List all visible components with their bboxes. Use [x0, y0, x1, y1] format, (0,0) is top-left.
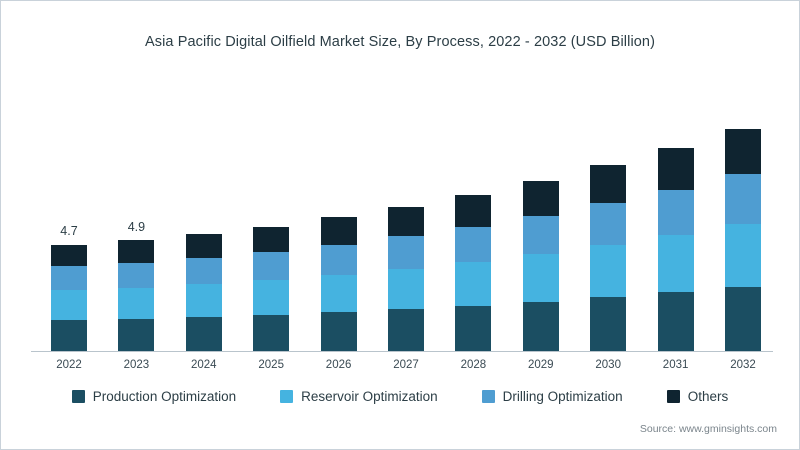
x-tick-label-2027: 2027: [376, 359, 436, 371]
bar-segment: [455, 227, 491, 262]
legend-swatch-icon: [72, 390, 85, 403]
x-tick-label-2031: 2031: [646, 359, 706, 371]
bar-stack-2028[interactable]: [455, 195, 491, 351]
x-tick-label-2024: 2024: [174, 359, 234, 371]
x-tick-label-2028: 2028: [443, 359, 503, 371]
bar-segment: [253, 252, 289, 280]
bar-value-label: 4.9: [128, 220, 145, 234]
bar-segment: [388, 236, 424, 268]
bar-segment: [590, 165, 626, 203]
chart-legend: Production OptimizationReservoir Optimiz…: [1, 389, 799, 404]
legend-swatch-icon: [482, 390, 495, 403]
bar-segment: [51, 290, 87, 320]
bar-segment: [725, 224, 761, 287]
legend-item-0[interactable]: Production Optimization: [72, 389, 236, 404]
bar-stack-2029[interactable]: [523, 181, 559, 351]
legend-label: Drilling Optimization: [503, 389, 623, 404]
bar-segment: [658, 190, 694, 235]
bar-segment: [118, 240, 154, 263]
bar-segment: [455, 262, 491, 306]
legend-label: Others: [688, 389, 729, 404]
bar-stack-2024[interactable]: [186, 234, 222, 351]
bar-segment: [321, 275, 357, 313]
bar-segment: [118, 263, 154, 288]
chart-card: Asia Pacific Digital Oilfield Market Siz…: [0, 0, 800, 450]
bar-segment: [658, 235, 694, 292]
bar-segment: [725, 174, 761, 224]
bar-segment: [388, 207, 424, 237]
x-tick-label-2022: 2022: [39, 359, 99, 371]
x-tick-label-2032: 2032: [713, 359, 773, 371]
bar-segment: [186, 234, 222, 258]
bar-stack-2023[interactable]: 4.9: [118, 240, 154, 351]
bar-stack-2026[interactable]: [321, 217, 357, 351]
plot-area: 4.74.9: [31, 79, 771, 351]
bar-segment: [186, 258, 222, 284]
bar-segment: [321, 217, 357, 244]
legend-label: Reservoir Optimization: [301, 389, 438, 404]
bar-segment: [590, 297, 626, 351]
bar-segment: [388, 309, 424, 351]
bar-segment: [321, 245, 357, 275]
bar-segment: [725, 129, 761, 175]
legend-label: Production Optimization: [93, 389, 236, 404]
bar-segment: [253, 315, 289, 351]
bar-stack-2032[interactable]: [725, 129, 761, 351]
x-axis-line: [31, 351, 773, 352]
bar-stack-2025[interactable]: [253, 227, 289, 351]
bar-segment: [321, 312, 357, 351]
legend-swatch-icon: [667, 390, 680, 403]
legend-swatch-icon: [280, 390, 293, 403]
bar-segment: [118, 288, 154, 319]
bar-value-label: 4.7: [60, 224, 77, 238]
chart-title: Asia Pacific Digital Oilfield Market Siz…: [1, 34, 799, 50]
bar-segment: [186, 284, 222, 317]
x-tick-label-2025: 2025: [241, 359, 301, 371]
bar-segment: [51, 245, 87, 267]
bar-segment: [253, 227, 289, 252]
bar-stack-2030[interactable]: [590, 165, 626, 351]
bar-segment: [590, 245, 626, 297]
bar-segment: [523, 254, 559, 302]
source-note: Source: www.gminsights.com: [640, 423, 777, 435]
bar-stack-2031[interactable]: [658, 148, 694, 351]
x-tick-label-2030: 2030: [578, 359, 638, 371]
legend-item-2[interactable]: Drilling Optimization: [482, 389, 623, 404]
bar-segment: [455, 306, 491, 351]
legend-item-3[interactable]: Others: [667, 389, 729, 404]
bar-segment: [658, 292, 694, 351]
bar-stack-2022[interactable]: 4.7: [51, 244, 87, 351]
bar-segment: [725, 287, 761, 351]
bar-segment: [186, 317, 222, 351]
bar-stack-2027[interactable]: [388, 207, 424, 351]
x-tick-label-2023: 2023: [106, 359, 166, 371]
bar-segment: [590, 203, 626, 245]
bar-segment: [658, 148, 694, 190]
bar-segment: [455, 195, 491, 227]
bar-segment: [253, 280, 289, 315]
x-tick-label-2026: 2026: [309, 359, 369, 371]
bar-segment: [51, 320, 87, 351]
legend-item-1[interactable]: Reservoir Optimization: [280, 389, 438, 404]
bar-segment: [51, 266, 87, 290]
bar-segment: [523, 302, 559, 351]
bar-segment: [523, 181, 559, 216]
x-tick-label-2029: 2029: [511, 359, 571, 371]
bar-segment: [118, 319, 154, 351]
bar-segment: [523, 216, 559, 254]
bar-segment: [388, 269, 424, 310]
